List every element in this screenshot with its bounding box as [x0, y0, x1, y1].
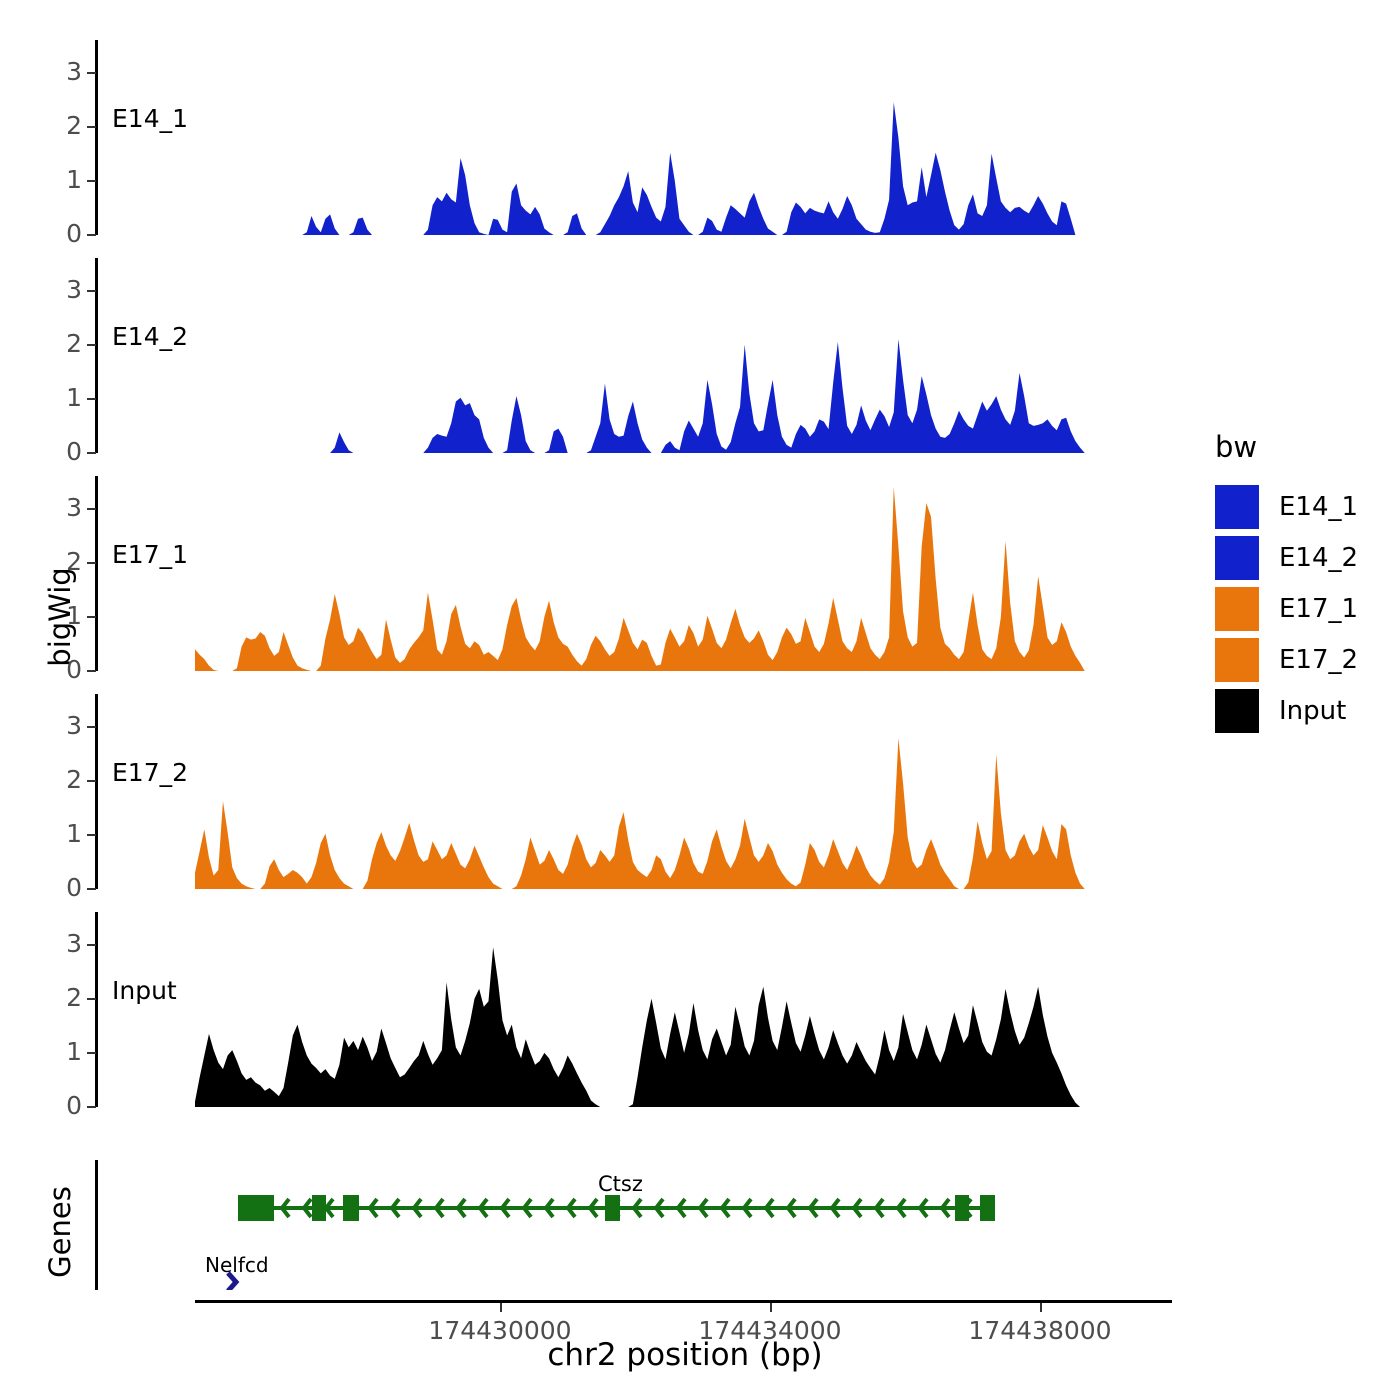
y-tick-mark [87, 834, 96, 836]
legend-color-swatch [1215, 485, 1259, 529]
legend-item-label: E17_1 [1279, 594, 1358, 624]
gene-ctsz[interactable] [238, 1195, 995, 1221]
y-tick-mark [87, 726, 96, 728]
y-tick-label: 1 [40, 819, 82, 848]
legend-title: bw [1215, 430, 1257, 464]
y-tick-mark [87, 780, 96, 782]
legend-color-swatch [1215, 689, 1259, 733]
coverage-path [195, 339, 1122, 453]
y-tick-label: 1 [40, 165, 82, 194]
y-tick-label: 1 [40, 1037, 82, 1066]
y-tick-mark [87, 234, 96, 236]
coverage-area-input [100, 912, 1180, 1107]
x-tick-mark [500, 1303, 502, 1312]
genes-axis-line [95, 1160, 98, 1290]
track-panel-e14_2 [100, 258, 1180, 453]
y-axis-line-e17_1 [95, 476, 98, 671]
legend-color-swatch [1215, 536, 1259, 580]
y-tick-label: 3 [40, 711, 82, 740]
y-tick-label: 0 [40, 655, 82, 684]
y-tick-label: 2 [40, 547, 82, 576]
y-tick-mark [87, 290, 96, 292]
legend-color-swatch [1215, 587, 1259, 631]
y-tick-label: 2 [40, 329, 82, 358]
y-tick-mark [87, 1106, 96, 1108]
coverage-area-e14_1 [100, 40, 1180, 235]
y-tick-mark [87, 126, 96, 128]
legend-item-label: E14_1 [1279, 492, 1358, 522]
legend-item-e14_2[interactable]: E14_2 [1215, 536, 1358, 580]
gene-label-nelfcd: Nelfcd [205, 1253, 269, 1277]
y-tick-label: 3 [40, 57, 82, 86]
gene-exon-box [343, 1195, 359, 1221]
y-tick-mark [87, 508, 96, 510]
y-axis-line-e14_1 [95, 40, 98, 235]
gene-exon-box [238, 1195, 274, 1221]
track-panel-e17_1 [100, 476, 1180, 671]
y-tick-mark [87, 398, 96, 400]
y-tick-mark [87, 1052, 96, 1054]
y-tick-label: 1 [40, 383, 82, 412]
y-tick-label: 1 [40, 601, 82, 630]
y-tick-label: 0 [40, 437, 82, 466]
y-tick-label: 2 [40, 765, 82, 794]
legend-item-e17_2[interactable]: E17_2 [1215, 638, 1358, 682]
y-tick-mark [87, 562, 96, 564]
y-tick-label: 0 [40, 219, 82, 248]
legend: bw E14_1E14_2E17_1E17_2Input [1215, 430, 1395, 710]
coverage-area-e14_2 [100, 258, 1180, 453]
legend-item-label: E14_2 [1279, 543, 1358, 573]
y-tick-label: 3 [40, 275, 82, 304]
y-axis-label-genes: Genes [43, 1142, 77, 1322]
track-panel-input [100, 912, 1180, 1107]
y-tick-mark [87, 944, 96, 946]
figure-root: bigWig Genes 0123E14_10123E14_20123E17_1… [0, 0, 1400, 1400]
x-tick-label: 174438000 [940, 1316, 1140, 1345]
y-tick-mark [87, 344, 96, 346]
track-panel-e17_2 [100, 694, 1180, 889]
y-tick-mark [87, 72, 96, 74]
y-axis-line-e14_2 [95, 258, 98, 453]
y-tick-label: 2 [40, 111, 82, 140]
y-tick-label: 0 [40, 1091, 82, 1120]
y-tick-mark [87, 670, 96, 672]
x-axis-label: chr2 position (bp) [400, 1337, 970, 1373]
y-tick-mark [87, 888, 96, 890]
x-tick-mark [1040, 1303, 1042, 1312]
legend-item-e17_1[interactable]: E17_1 [1215, 587, 1358, 631]
coverage-path [195, 102, 1122, 235]
x-tick-mark [770, 1303, 772, 1312]
coverage-path [195, 947, 1122, 1107]
legend-color-swatch [1215, 638, 1259, 682]
legend-item-label: Input [1279, 696, 1346, 726]
y-axis-line-input [95, 912, 98, 1107]
y-tick-label: 3 [40, 493, 82, 522]
y-tick-label: 2 [40, 983, 82, 1012]
coverage-area-e17_1 [100, 476, 1180, 671]
y-tick-mark [87, 998, 96, 1000]
x-axis-line [195, 1300, 1172, 1303]
coverage-path [195, 487, 1122, 671]
y-axis-line-e17_2 [95, 694, 98, 889]
coverage-area-e17_2 [100, 694, 1180, 889]
y-tick-label: 0 [40, 873, 82, 902]
legend-item-label: E17_2 [1279, 645, 1358, 675]
coverage-path [195, 738, 1122, 889]
legend-item-e14_1[interactable]: E14_1 [1215, 485, 1358, 529]
track-panel-e14_1 [100, 40, 1180, 235]
y-tick-mark [87, 616, 96, 618]
gene-label-ctsz: Ctsz [598, 1172, 643, 1196]
y-tick-label: 3 [40, 929, 82, 958]
legend-item-input[interactable]: Input [1215, 689, 1346, 733]
y-tick-mark [87, 180, 96, 182]
y-tick-mark [87, 452, 96, 454]
